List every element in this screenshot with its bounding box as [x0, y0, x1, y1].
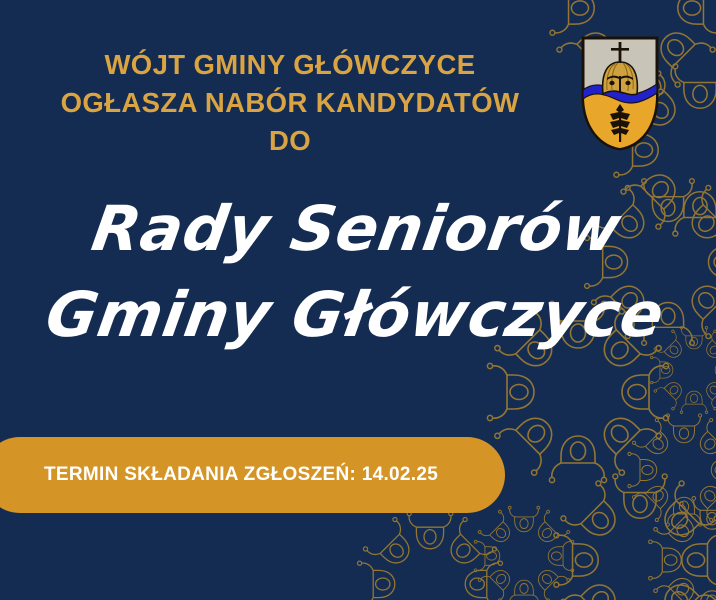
headline-block: WÓJT GMINY GŁÓWCZYCE OGŁASZA NABÓR KANDY… [0, 46, 580, 160]
script-title-line-1: Rady Seniorów [0, 186, 654, 272]
headline-line-1: WÓJT GMINY GŁÓWCZYCE [0, 46, 580, 84]
script-title-block: Rady Seniorów Gminy Główczyce [0, 186, 640, 358]
headline-line-3: DO [0, 122, 580, 160]
deadline-banner-text: TERMIN SKŁADANIA ZGŁOSZEŃ: 14.02.25 [0, 464, 438, 486]
script-title-line-2: Gminy Główczyce [0, 272, 654, 358]
headline-line-2: OGŁASZA NABÓR KANDYDATÓW [0, 84, 580, 122]
coat-of-arms-icon [579, 34, 661, 153]
poster-canvas: WÓJT GMINY GŁÓWCZYCE OGŁASZA NABÓR KANDY… [0, 0, 716, 600]
deadline-banner: TERMIN SKŁADANIA ZGŁOSZEŃ: 14.02.25 [0, 437, 505, 513]
